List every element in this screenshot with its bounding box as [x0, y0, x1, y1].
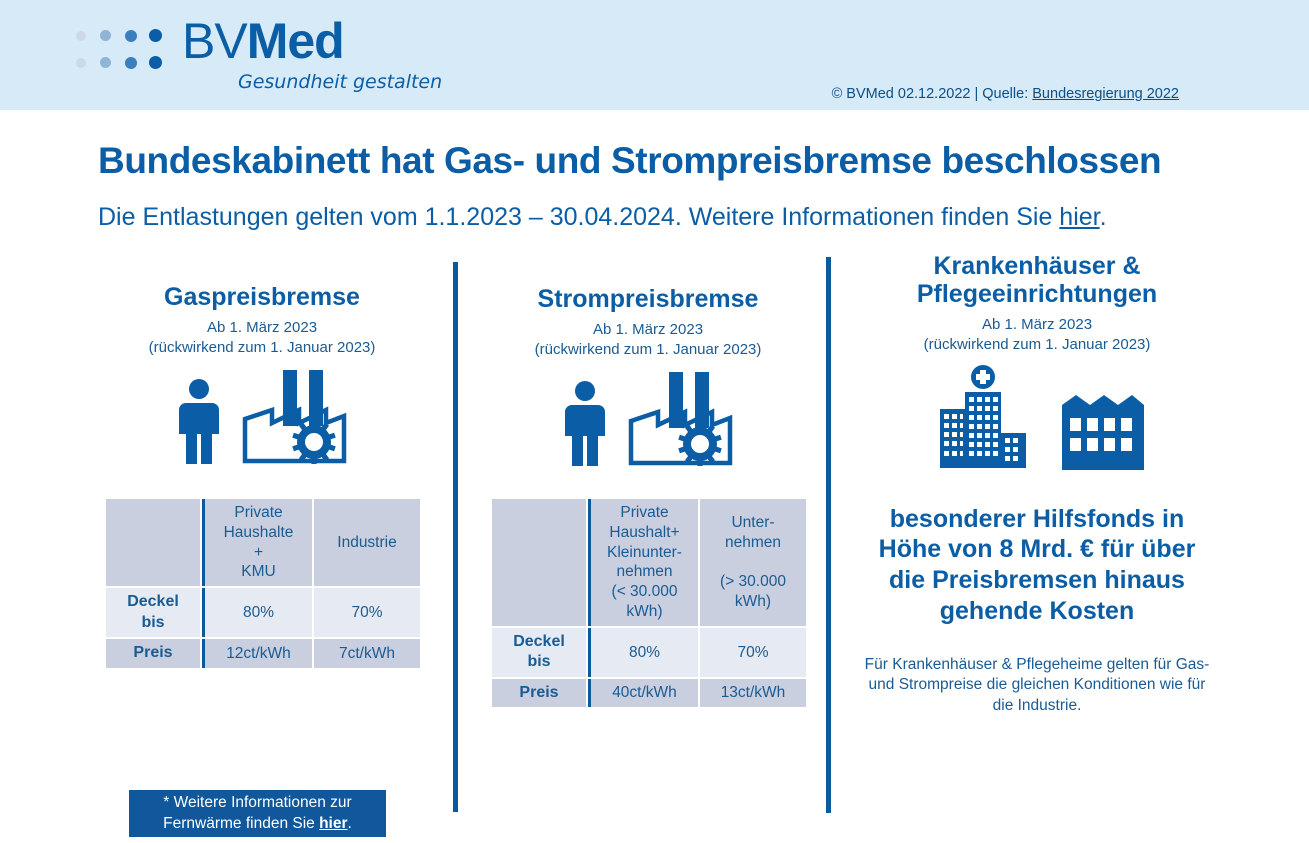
kh-sub-line2: (rückwirkend zum 1. Januar 2023): [862, 335, 1212, 355]
gas-sub-line1: Ab 1. März 2023: [104, 318, 420, 338]
logo-text-med: Med: [247, 13, 344, 69]
gas-h1-l4: KMU: [241, 563, 275, 580]
strom-h2-l3: (> 30.000: [720, 573, 786, 590]
source-link[interactable]: Bundesregierung 2022: [1032, 86, 1179, 102]
copyright-text: © BVMed 02.12.2022 | Quelle:: [832, 86, 1033, 102]
bvmed-logo-wordmark: BVMed: [182, 16, 344, 66]
copyright-line: © BVMed 02.12.2022 | Quelle: Bundesregie…: [832, 86, 1179, 102]
strom-preis-haushalte: 40ct/kWh: [588, 679, 698, 707]
fernwaerme-banner[interactable]: * Weitere Informationen zur Fernwärme fi…: [129, 790, 386, 837]
logo-dot: [100, 30, 111, 41]
gas-subheading: Ab 1. März 2023 (rückwirkend zum 1. Janu…: [104, 318, 420, 358]
gas-row-label-deckel: Deckel bis: [106, 588, 200, 637]
page-title: Bundeskabinett hat Gas- und Strompreisbr…: [98, 140, 1288, 182]
strom-subheading: Ab 1. März 2023 (rückwirkend zum 1. Janu…: [490, 320, 806, 360]
table-row: Private Haushalt+ Kleinunter- nehmen (< …: [492, 499, 806, 626]
logo-claim: Gesundheit gestalten: [238, 71, 442, 93]
subtitle-suffix: .: [1100, 203, 1107, 231]
hospital-icon: [928, 365, 1038, 478]
gas-header-empty: [106, 499, 200, 586]
logo-dot: [125, 30, 137, 42]
subtitle-hier-link[interactable]: hier: [1059, 203, 1099, 231]
strom-sub-line1: Ab 1. März 2023: [490, 320, 806, 340]
strom-h2-l4: kWh): [735, 593, 771, 610]
strom-deckel-l2: bis: [527, 653, 550, 670]
table-row: Preis 12ct/kWh 7ct/kWh: [106, 639, 420, 667]
strom-icon-row: [490, 372, 806, 471]
strom-deckel-l1: Deckel: [513, 633, 565, 650]
gas-h1-l3: +: [254, 544, 263, 561]
gas-icon-row: [104, 370, 420, 469]
strom-header-haushalte: Private Haushalt+ Kleinunter- nehmen (< …: [588, 499, 698, 626]
kh-sub-line1: Ab 1. März 2023: [862, 315, 1212, 335]
logo-dot: [149, 56, 162, 69]
logo-dot: [76, 31, 86, 41]
gas-preis-industrie: 7ct/kWh: [314, 639, 420, 667]
logo-dot: [100, 57, 111, 68]
kh-heading: Krankenhäuser & Pflegeeinrichtungen: [862, 252, 1212, 308]
banner-text: * Weitere Informationen zur Fernwärme fi…: [137, 793, 378, 833]
gas-preis-haushalte: 12ct/kWh: [202, 639, 312, 667]
banner-text-suffix: .: [348, 815, 352, 832]
column-divider-right: [826, 257, 831, 813]
gas-header-industrie: Industrie: [314, 499, 420, 586]
kh-note: Für Krankenhäuser & Pflegeheime gelten f…: [862, 655, 1212, 717]
column-gaspreisbremse: Gaspreisbremse Ab 1. März 2023 (rückwirk…: [104, 283, 420, 469]
banner-hier-link[interactable]: hier: [319, 815, 347, 832]
table-row: Preis 40ct/kWh 13ct/kWh: [492, 679, 806, 707]
gas-sub-line2: (rückwirkend zum 1. Januar 2023): [104, 338, 420, 358]
strom-sub-line2: (rückwirkend zum 1. Januar 2023): [490, 340, 806, 360]
factory-icon: [628, 372, 733, 471]
kh-icon-row: [862, 365, 1212, 478]
kh-heading-l1: Krankenhäuser &: [862, 252, 1212, 280]
gas-deckel-haushalte: 80%: [202, 588, 312, 637]
gas-header-haushalte: Private Haushalte + KMU: [202, 499, 312, 586]
kh-heading-l2: Pflegeeinrichtungen: [862, 280, 1212, 308]
person-icon: [178, 378, 220, 469]
factory-icon: [242, 370, 347, 469]
strom-table: Private Haushalt+ Kleinunter- nehmen (< …: [490, 497, 808, 709]
column-krankenhaeuser: Krankenhäuser & Pflegeeinrichtungen Ab 1…: [862, 252, 1212, 717]
logo-dot: [76, 58, 86, 68]
strom-h2-l2: nehmen: [725, 534, 781, 551]
strom-heading: Strompreisbremse: [490, 285, 806, 313]
column-divider-left: [453, 262, 458, 812]
kh-main-statement: besonderer Hilfsfonds in Höhe von 8 Mrd.…: [862, 504, 1212, 627]
strom-h1-l5: (< 30.000: [612, 583, 678, 600]
person-icon: [564, 380, 606, 471]
strom-row-label-deckel: Deckel bis: [492, 628, 586, 677]
strom-h1-l3: Kleinunter-: [607, 544, 682, 561]
infographic-page: BVMed Gesundheit gestalten © BVMed 02.12…: [0, 0, 1309, 843]
gas-row-label-preis: Preis: [106, 639, 200, 667]
strom-h1-l4: nehmen: [616, 563, 672, 580]
subtitle-text: Die Entlastungen gelten vom 1.1.2023 – 3…: [98, 203, 1059, 231]
strom-header-unternehmen: Unter- nehmen (> 30.000 kWh): [700, 499, 806, 626]
header-band: BVMed Gesundheit gestalten © BVMed 02.12…: [0, 0, 1309, 110]
gas-table: Private Haushalte + KMU Industrie Deckel…: [104, 497, 422, 670]
strom-deckel-unternehmen: 70%: [700, 628, 806, 677]
strom-deckel-haushalte: 80%: [588, 628, 698, 677]
gas-deckel-l1: Deckel: [127, 593, 179, 610]
strom-h1-l2: Haushalt+: [609, 524, 679, 541]
gas-deckel-l2: bis: [141, 614, 164, 631]
column-strompreisbremse: Strompreisbremse Ab 1. März 2023 (rückwi…: [490, 285, 806, 471]
strom-row-label-preis: Preis: [492, 679, 586, 707]
strom-h1-l1: Private: [620, 504, 668, 521]
gas-h1-l2: Haushalte: [224, 524, 294, 541]
care-home-icon: [1060, 391, 1146, 478]
gas-h1-l1: Private: [234, 504, 282, 521]
gas-heading: Gaspreisbremse: [104, 283, 420, 311]
kh-subheading: Ab 1. März 2023 (rückwirkend zum 1. Janu…: [862, 315, 1212, 355]
strom-header-empty: [492, 499, 586, 626]
table-row: Private Haushalte + KMU Industrie: [106, 499, 420, 586]
strom-h1-l6: kWh): [626, 603, 662, 620]
table-row: Deckel bis 80% 70%: [492, 628, 806, 677]
page-subtitle: Die Entlastungen gelten vom 1.1.2023 – 3…: [98, 203, 1288, 232]
strom-preis-unternehmen: 13ct/kWh: [700, 679, 806, 707]
strom-h2-l1: Unter-: [731, 514, 774, 531]
table-row: Deckel bis 80% 70%: [106, 588, 420, 637]
logo-dot: [149, 29, 162, 42]
gas-deckel-industrie: 70%: [314, 588, 420, 637]
bvmed-logo-dots: [68, 22, 168, 76]
logo-dot: [125, 57, 137, 69]
logo-text-bv: BV: [182, 13, 247, 69]
